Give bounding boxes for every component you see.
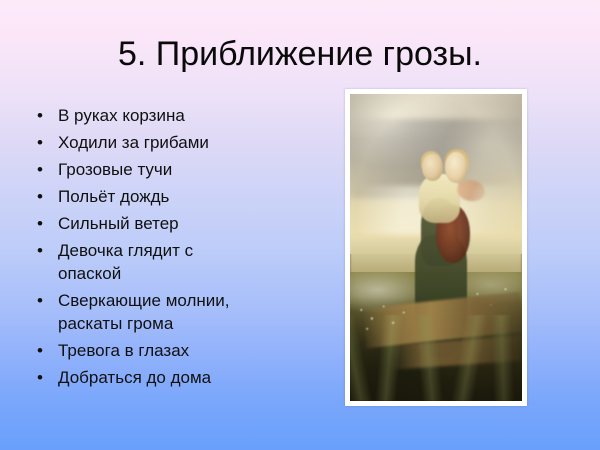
list-item-line: В руках корзина — [58, 104, 310, 127]
bullet-icon: • — [37, 131, 43, 154]
bullet-icon: • — [37, 339, 43, 362]
list-item-line: раскаты грома — [58, 312, 310, 335]
list-item: • Польёт дождь — [30, 185, 310, 208]
list-item: • Тревога в глазах — [30, 339, 310, 362]
list-item: • Добраться до дома — [30, 366, 310, 389]
bullet-list: • В руках корзина • Ходили за грибами • … — [30, 104, 310, 393]
list-item: • В руках корзина — [30, 104, 310, 127]
bullet-icon: • — [37, 366, 43, 389]
list-item-line: Добраться до дома — [58, 366, 310, 389]
list-item: • Грозовые тучи — [30, 158, 310, 181]
painting-vignette — [350, 94, 522, 401]
bullet-icon: • — [37, 239, 43, 262]
list-item-line: Тревога в глазах — [58, 339, 310, 362]
page-title: 5. Приближение грозы. — [0, 33, 600, 75]
painting-frame — [345, 89, 527, 406]
bullet-icon: • — [37, 104, 43, 127]
list-item: • Ходили за грибами — [30, 131, 310, 154]
presentation-slide: 5. Приближение грозы. • В руках корзина … — [0, 0, 600, 450]
bullet-icon: • — [37, 289, 43, 312]
list-item-line: Грозовые тучи — [58, 158, 310, 181]
list-item-line: опаской — [58, 262, 310, 285]
list-item-line: Девочка глядит с — [58, 239, 310, 262]
list-item: • Сверкающие молнии, раскаты грома — [30, 289, 310, 335]
list-item-line: Сильный ветер — [58, 212, 310, 235]
list-item: • Девочка глядит с опаской — [30, 239, 310, 285]
list-item-line: Сверкающие молнии, — [58, 289, 310, 312]
list-item: • Сильный ветер — [30, 212, 310, 235]
bullet-icon: • — [37, 212, 43, 235]
bullet-icon: • — [37, 158, 43, 181]
list-item-line: Ходили за грибами — [58, 131, 310, 154]
list-item-line: Польёт дождь — [58, 185, 310, 208]
bullet-icon: • — [37, 185, 43, 208]
painting-image — [350, 94, 522, 401]
